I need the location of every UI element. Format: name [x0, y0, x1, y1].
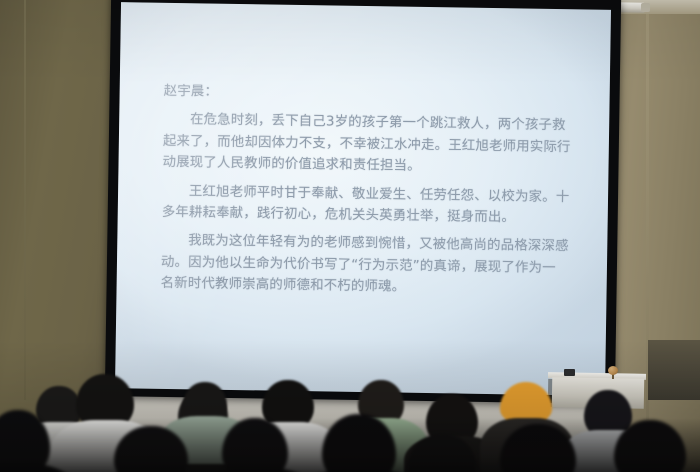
slide-paragraph-3: 我既为这位年轻有为的老师感到惋惜，又被他高尚的品格深深感动。因为他以生命为代价书… — [160, 230, 569, 301]
lectern-dark-object — [564, 369, 575, 376]
projector-screen-roller-cap — [641, 3, 650, 12]
slide-speaker-label: 赵宇晨： — [163, 81, 571, 109]
right-dark-panel — [648, 340, 700, 400]
lectern-round-object — [608, 366, 618, 375]
lecture-hall-scene: 赵宇晨： 在危急时刻，丢下自己3岁的孩子第一个跳江救人，两个孩子救起来了，而他却… — [0, 0, 700, 472]
slide-paragraph-1: 在危急时刻，丢下自己3岁的孩子第一个跳江救人，两个孩子救起来了，而他却因体力不支… — [162, 109, 571, 180]
lectern-body — [552, 377, 645, 409]
left-wall-seam — [24, 0, 26, 400]
left-wall — [0, 0, 122, 472]
projection-screen[interactable]: 赵宇晨： 在危急时刻，丢下自己3岁的孩子第一个跳江救人，两个孩子救起来了，而他却… — [115, 2, 611, 396]
slide-text-block: 赵宇晨： 在危急时刻，丢下自己3岁的孩子第一个跳江救人，两个孩子救起来了，而他却… — [160, 81, 571, 301]
slide-paragraph-2: 王红旭老师平时甘于奉献、敬业爱生、任劳任怨、以校为家。十多年耕耘奉献，践行初心，… — [162, 180, 571, 229]
